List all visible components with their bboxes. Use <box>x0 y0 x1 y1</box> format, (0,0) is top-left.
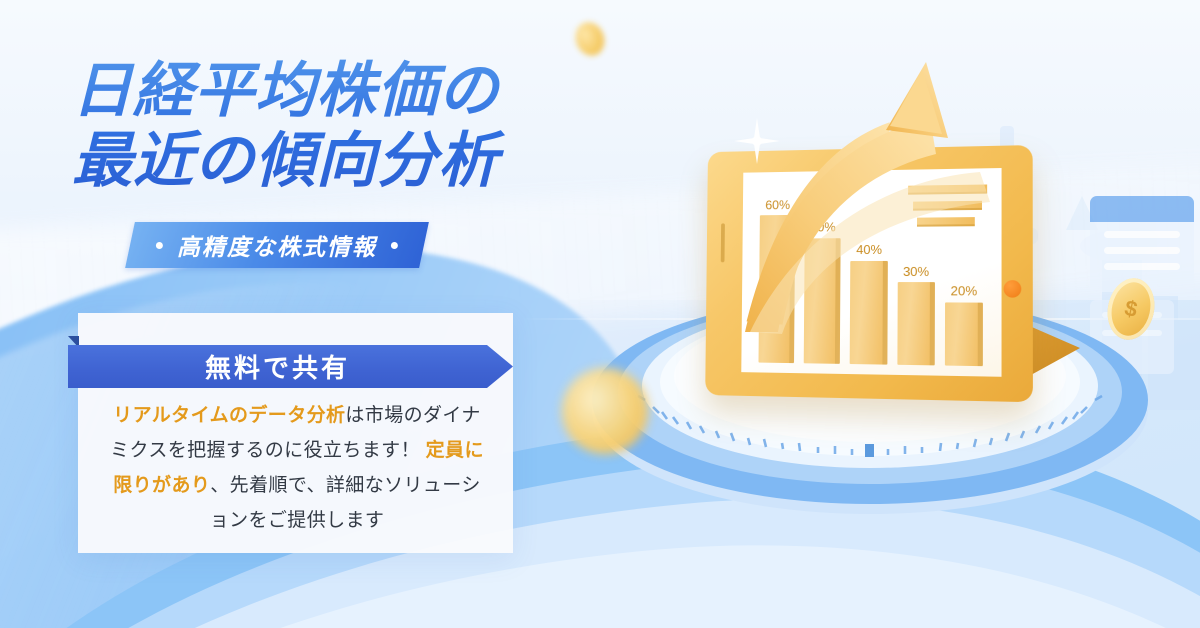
ribbon-label: 無料で共有 <box>205 348 350 385</box>
banner-stage: 60% 50% 40% 30% <box>0 0 1200 628</box>
coin-top <box>571 18 609 60</box>
background-card-line <box>1104 231 1180 238</box>
background-card-line <box>1104 247 1180 254</box>
subtitle-badge: 高精度な株式情報 <box>125 222 429 268</box>
body-text-2: 、先着順で、詳細なソリューションをご提供します <box>210 475 481 531</box>
dial-marker <box>865 444 874 457</box>
card-description: リアルタイムのデータ分析は市場のダイナミクスを把握するのに役立ちます！ 定員に限… <box>108 398 486 538</box>
subtitle-text: 高精度な株式情報 <box>177 228 377 262</box>
hero-illustration: 60% 50% 40% 30% <box>540 0 1200 628</box>
sparkle-icon <box>734 118 780 164</box>
growth-arrow-icon <box>690 26 1070 356</box>
highlight-phrase-1: リアルタイムのデータ分析 <box>113 405 345 426</box>
background-card-header <box>1090 196 1194 222</box>
page-title: 日経平均株価の 最近の傾向分析 <box>72 56 592 196</box>
ribbon-body[interactable]: 無料で共有 <box>68 345 513 388</box>
bullet-dot-icon <box>391 242 398 249</box>
ribbon-banner: 無料で共有 <box>68 336 513 384</box>
bullet-dot-icon <box>156 242 163 249</box>
